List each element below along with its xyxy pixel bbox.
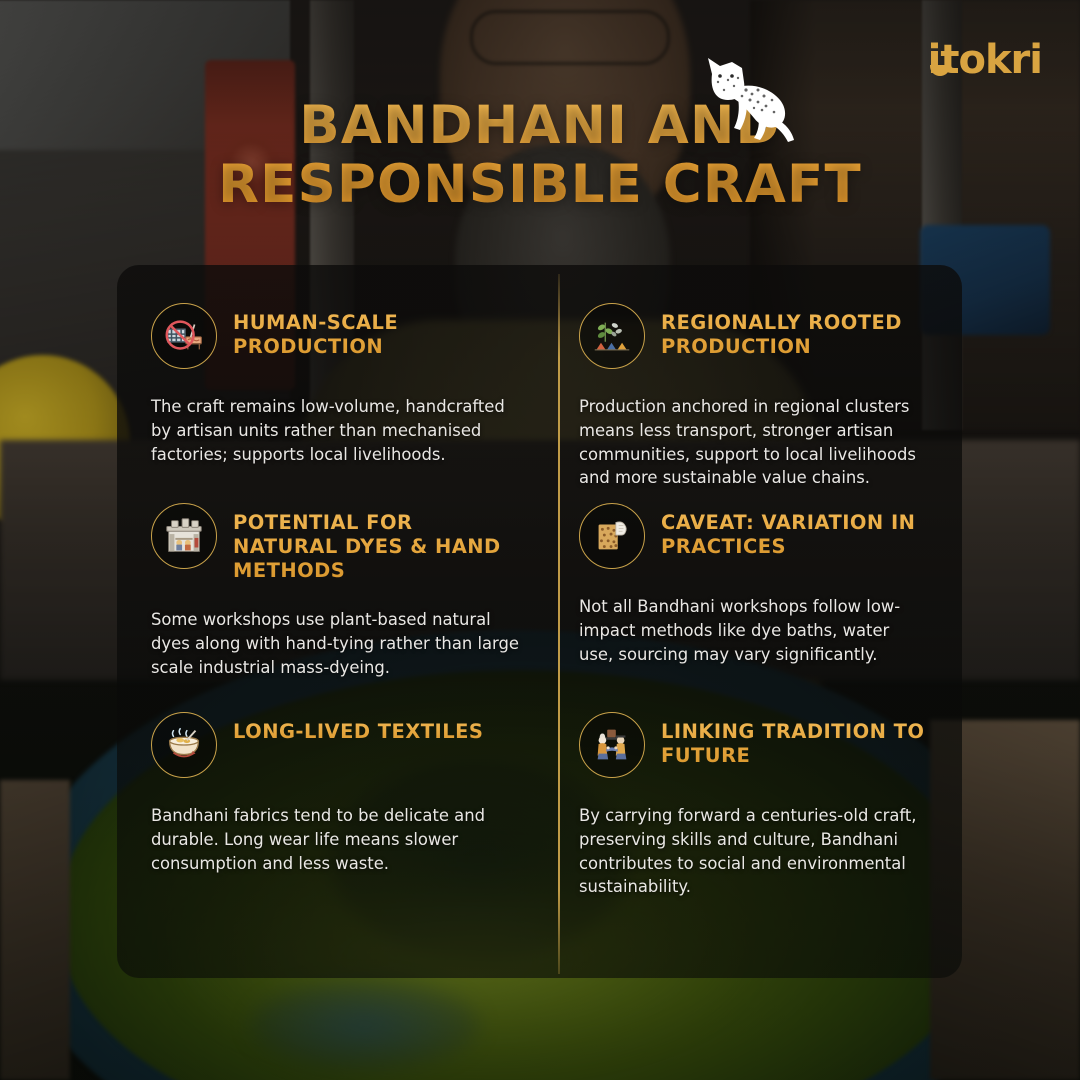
steaming-dye-pot-icon — [151, 712, 217, 778]
card-header: POTENTIAL FOR NATURAL DYES & HAND METHOD… — [151, 503, 523, 582]
workshop-building-icon — [151, 503, 217, 569]
card-title: REGIONALLY ROOTED PRODUCTION — [661, 311, 928, 359]
card-human-scale-production[interactable]: HUMAN-SCALE PRODUCTION The craft remains… — [117, 265, 557, 465]
card-title: LINKING TRADITION TO FUTURE — [661, 720, 928, 768]
card-body: Not all Bandhani workshops follow low-im… — [579, 595, 928, 666]
card-header: LINKING TRADITION TO FUTURE — [579, 712, 928, 778]
card-header: LONG-LIVED TEXTILES — [151, 712, 523, 778]
card-potential-for-natural-dyes[interactable]: POTENTIAL FOR NATURAL DYES & HAND METHOD… — [117, 465, 557, 674]
card-long-lived-textiles[interactable]: LONG-LIVED TEXTILES Bandhani fabrics ten… — [117, 674, 557, 978]
logo-bowl-glyph: itokri — [928, 40, 1042, 80]
page-title-line-2: RESPONSIBLE CRAFT — [218, 154, 862, 215]
hand-holding-fabric-icon — [579, 503, 645, 569]
page-title: BANDHANI AND RESPONSIBLE CRAFT — [0, 96, 1080, 215]
two-artisans-icon — [579, 712, 645, 778]
card-body: Some workshops use plant-based natural d… — [151, 608, 523, 679]
card-title: LONG-LIVED TEXTILES — [233, 720, 483, 744]
cat-icon — [694, 48, 802, 148]
card-body: The craft remains low-volume, handcrafte… — [151, 395, 523, 466]
card-linking-tradition-to-future[interactable]: LINKING TRADITION TO FUTURE By carrying … — [557, 674, 962, 978]
card-regionally-rooted-production[interactable]: REGIONALLY ROOTED PRODUCTION Production … — [557, 265, 962, 465]
no-factory-icon — [151, 303, 217, 369]
card-title: POTENTIAL FOR NATURAL DYES & HAND METHOD… — [233, 511, 523, 582]
feature-grid: HUMAN-SCALE PRODUCTION The craft remains… — [117, 265, 962, 978]
card-header: HUMAN-SCALE PRODUCTION — [151, 303, 523, 369]
card-body: By carrying forward a centuries-old craf… — [579, 804, 928, 899]
card-header: CAVEAT: VARIATION IN PRACTICES — [579, 503, 928, 569]
plants-and-dye-mounds-icon — [579, 303, 645, 369]
brand-logo-text: itokri — [928, 37, 1042, 83]
card-body: Bandhani fabrics tend to be delicate and… — [151, 804, 523, 875]
card-header: REGIONALLY ROOTED PRODUCTION — [579, 303, 928, 369]
brand-logo[interactable]: itokri — [928, 40, 1042, 80]
card-title: HUMAN-SCALE PRODUCTION — [233, 311, 523, 359]
card-title: CAVEAT: VARIATION IN PRACTICES — [661, 511, 928, 559]
card-caveat-variation-in-practices[interactable]: CAVEAT: VARIATION IN PRACTICES Not all B… — [557, 465, 962, 674]
